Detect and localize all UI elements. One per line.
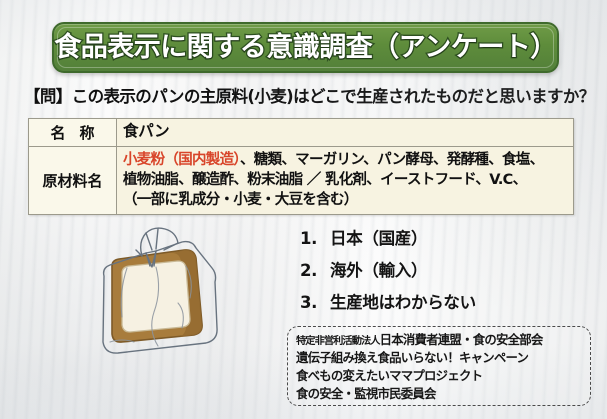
ingredient-line-3: （一部に乳成分・小麦・大豆を含む）	[123, 190, 567, 210]
credit-line-2: 遺伝子組み換え食品いらない！キャンペーン	[296, 349, 586, 367]
answer-option-1-number: 1.	[300, 229, 330, 248]
title-banner: 食品表示に関する意識調査（アンケート）	[52, 22, 559, 73]
ingredient-line-2-rest: 植物油脂、醸造酢、粉末油脂 ／ 乳化剤、イーストフード、V.C、	[123, 172, 526, 188]
bread-loaf-illustration	[86, 220, 256, 360]
answer-option-2-number: 2.	[300, 261, 330, 280]
credit-line-2-main: 遺伝子組み換え食品いらない！キャンペーン	[296, 350, 528, 365]
ingredient-line-1-rest: 、糖類、マーガリン、パン酵母、発酵種、食塩、	[240, 152, 543, 168]
question-text: 【問】この表示のパンの主原料(小麦)はどこで生産されたものだと思いますか？	[24, 83, 589, 107]
page-title: 食品表示に関する意識調査（アンケート）	[54, 34, 556, 61]
ingredient-line-3-rest: （一部に乳成分・小麦・大豆を含む）	[123, 192, 358, 208]
credit-line-3: 食べもの変えたいママプロジェクト	[296, 367, 586, 385]
table-cell-ingredients-value: 小麦粉（国内製造）、糖類、マーガリン、パン酵母、発酵種、食塩、 植物油脂、醸造酢…	[117, 147, 573, 214]
credit-line-4: 食の安全・監視市民委員会	[296, 385, 586, 403]
answer-option-2[interactable]: 2. 海外（輸入）	[300, 257, 600, 281]
table-cell-name-value: 食パン	[117, 119, 573, 146]
table-row-ingredients: 原材料名 小麦粉（国内製造）、糖類、マーガリン、パン酵母、発酵種、食塩、 植物油…	[29, 147, 573, 214]
answer-option-1[interactable]: 1. 日本（国産）	[300, 225, 600, 249]
food-label-table: 名称 食パン 原材料名 小麦粉（国内製造）、糖類、マーガリン、パン酵母、発酵種、…	[28, 118, 574, 215]
answer-option-1-label: 日本（国産）	[330, 225, 427, 249]
table-row-name: 名称 食パン	[29, 119, 573, 147]
ingredient-line-1: 小麦粉（国内製造）、糖類、マーガリン、パン酵母、発酵種、食塩、	[123, 150, 567, 170]
ingredient-line-2: 植物油脂、醸造酢、粉末油脂 ／ 乳化剤、イーストフード、V.C、	[123, 170, 567, 190]
answer-option-2-label: 海外（輸入）	[330, 257, 427, 281]
credit-line-1-main: 日本消費者連盟・食の安全部会	[380, 332, 543, 347]
answer-option-3[interactable]: 3. 生産地はわからない	[300, 289, 600, 313]
poster-page: 食品表示に関する意識調査（アンケート） 【問】この表示のパンの主原料(小麦)はど…	[0, 0, 607, 419]
product-name-value: 食パン	[123, 122, 567, 141]
credit-line-1-prefix: 特定非営利活動法人	[296, 336, 380, 347]
table-header-ingredients: 原材料名	[29, 147, 117, 214]
ingredient-highlight-wheat-flour: 小麦粉（国内製造）	[123, 152, 240, 168]
table-header-name: 名称	[29, 119, 117, 146]
answer-options-list: 1. 日本（国産） 2. 海外（輸入） 3. 生産地はわからない	[300, 225, 600, 321]
credit-line-4-main: 食の安全・監視市民委員会	[296, 386, 436, 401]
credit-line-3-main: 食べもの変えたいママプロジェクト	[296, 368, 482, 383]
credit-line-1: 特定非営利活動法人日本消費者連盟・食の安全部会	[296, 331, 586, 349]
answer-option-3-number: 3.	[300, 293, 330, 312]
organization-credits-box: 特定非営利活動法人日本消費者連盟・食の安全部会 遺伝子組み換え食品いらない！キャ…	[287, 326, 591, 406]
answer-option-3-label: 生産地はわからない	[330, 289, 476, 313]
